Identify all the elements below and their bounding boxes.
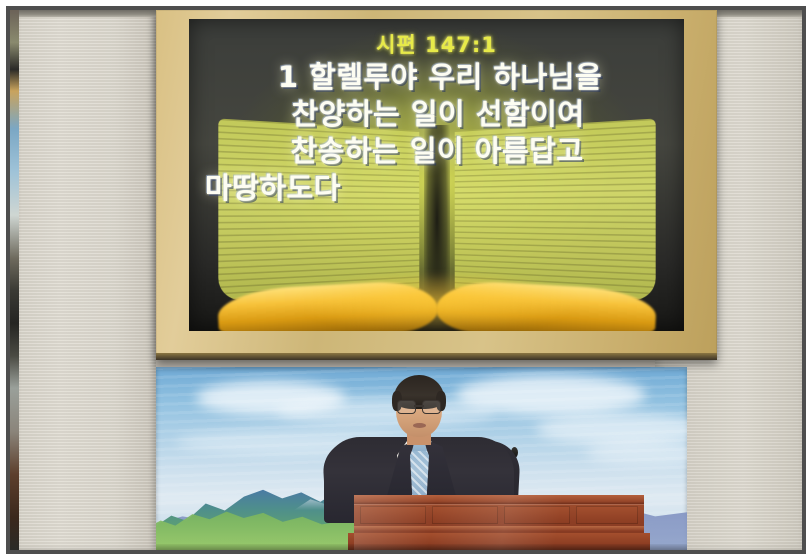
projection-screen: 시편 147:1 1 할렐루야 우리 하나님을 찬양하는 일이 선함이여 찬송하… — [189, 19, 684, 331]
eyeglass-lens-right — [422, 400, 441, 414]
mouth — [413, 423, 426, 428]
eyeglasses — [397, 400, 441, 413]
verse-line-2: 찬양하는 일이 선함이여 — [201, 96, 673, 133]
eyeglass-lens-left — [397, 400, 416, 414]
mountain-backdrop — [156, 367, 687, 550]
photo-container: 시편 147:1 1 할렐루야 우리 하나님을 찬양하는 일이 선함이여 찬송하… — [0, 0, 812, 560]
left-edge-strip — [10, 10, 19, 550]
verse-line-1: 1 할렐루야 우리 하나님을 — [201, 59, 673, 96]
eyeglass-bridge — [414, 405, 424, 407]
scene: 시편 147:1 1 할렐루야 우리 하나님을 찬양하는 일이 선함이여 찬송하… — [10, 10, 802, 550]
slide-text: 시편 147:1 1 할렐루야 우리 하나님을 찬양하는 일이 선함이여 찬송하… — [189, 19, 684, 331]
wooden-pulpit — [354, 495, 644, 550]
verse-line-4: 마땅하도다 — [201, 170, 673, 207]
floor-shadow — [156, 544, 687, 550]
verse-line-3: 찬송하는 일이 아름답고 — [201, 133, 673, 170]
left-wall-panel — [19, 10, 156, 550]
speaker — [156, 367, 687, 550]
verse-body: 1 할렐루야 우리 하나님을 찬양하는 일이 선함이여 찬송하는 일이 아름답고… — [201, 59, 673, 207]
pulpit-highlight — [354, 495, 644, 550]
projection-screen-assembly: 시편 147:1 1 할렐루야 우리 하나님을 찬양하는 일이 선함이여 찬송하… — [156, 10, 717, 360]
verse-reference: 시편 147:1 — [189, 29, 684, 59]
